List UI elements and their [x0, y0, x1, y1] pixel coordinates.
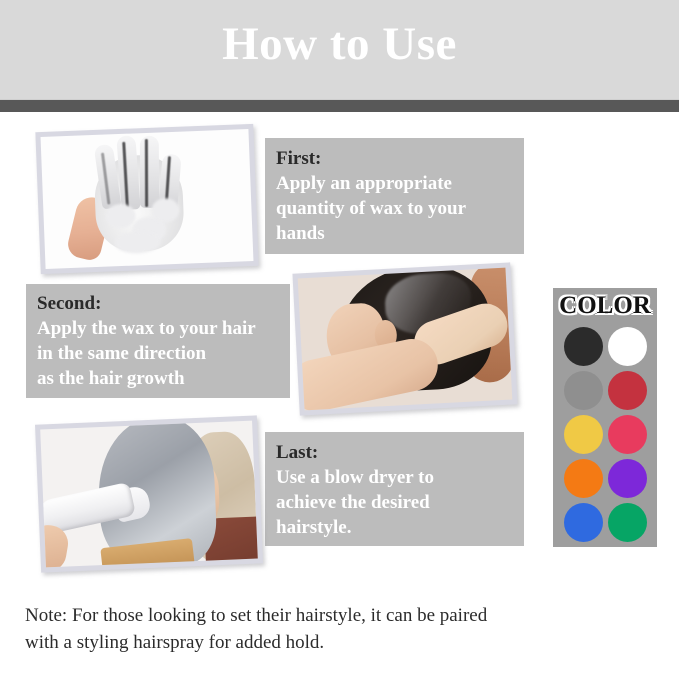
color-swatch-pink[interactable] [608, 415, 647, 454]
note-text: Note: For those looking to set their hai… [25, 602, 635, 656]
step-box-last: Last: Use a blow dryer to achieve the de… [265, 432, 524, 546]
color-swatch-white[interactable] [608, 327, 647, 366]
step-box-first: First: Apply an appropriate quantity of … [265, 138, 524, 254]
color-swatch-yellow[interactable] [564, 415, 603, 454]
hand-with-wax-photo [35, 124, 258, 274]
step-heading-first: First: [276, 146, 524, 171]
blow-dryer-photo [35, 415, 263, 572]
step-heading-second: Second: [37, 291, 290, 316]
blow-dryer-image [40, 421, 258, 568]
color-swatch-blue[interactable] [564, 503, 603, 542]
color-swatch-green[interactable] [608, 503, 647, 542]
step-box-second: Second: Apply the wax to your hair in th… [26, 284, 290, 398]
finger-shape [140, 136, 159, 208]
color-swatch-purple[interactable] [608, 459, 647, 498]
wax-streak [145, 139, 148, 207]
color-swatch-orange[interactable] [564, 459, 603, 498]
applying-wax-to-hair-image [298, 268, 513, 411]
color-swatch-red[interactable] [608, 371, 647, 410]
wax-blob [114, 231, 161, 255]
step-body-first: Apply an appropriate quantity of wax to … [276, 171, 524, 246]
hand-with-wax-image [41, 129, 254, 269]
applying-wax-to-hair-photo [292, 262, 517, 415]
header-divider [0, 99, 679, 112]
page-title: How to Use [0, 17, 679, 71]
color-panel: COLOR [553, 288, 657, 547]
color-swatch-black[interactable] [564, 327, 603, 366]
finger-shape [116, 135, 140, 210]
color-swatch-grid [561, 324, 649, 544]
color-swatch-gray[interactable] [564, 371, 603, 410]
step-heading-last: Last: [276, 440, 524, 465]
color-panel-title: COLOR [553, 292, 657, 320]
step-body-second: Apply the wax to your hair in the same d… [37, 316, 290, 391]
step-body-last: Use a blow dryer to achieve the desired … [276, 465, 524, 540]
